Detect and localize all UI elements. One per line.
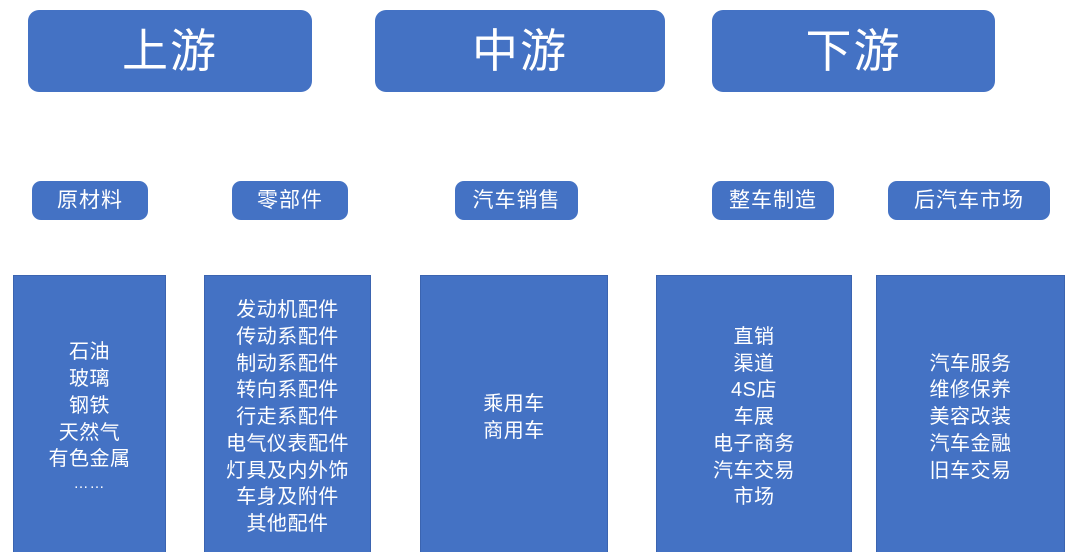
category-label: 汽车销售 <box>473 190 561 211</box>
list-item: 汽车服务 <box>930 351 1012 378</box>
category-pill-vehicle-sales[interactable]: 汽车销售 <box>455 181 578 220</box>
category-label: 零部件 <box>257 190 323 211</box>
category-label: 原材料 <box>57 190 123 211</box>
tier-label: 上游 <box>122 28 218 74</box>
list-item: 美容改装 <box>930 404 1012 431</box>
list-item: 灯具及内外饰 <box>226 458 349 485</box>
category-pill-vehicle-manufacturing[interactable]: 整车制造 <box>712 181 834 220</box>
list-item: 电气仪表配件 <box>226 431 349 458</box>
content-box-vehicle-sales[interactable]: 乘用车 商用车 <box>420 275 608 552</box>
category-pill-raw-materials[interactable]: 原材料 <box>32 181 148 220</box>
list-item: 电子商务 <box>713 431 795 458</box>
list-item: 渠道 <box>734 351 775 378</box>
list-item: 直销 <box>734 324 775 351</box>
list-item: 天然气 <box>59 420 121 447</box>
industry-chain-diagram: 上游 中游 下游 原材料 零部件 汽车销售 整车制造 后汽车市场 石油 玻璃 钢… <box>0 0 1080 552</box>
list-item: 维修保养 <box>930 377 1012 404</box>
tier-box-midstream[interactable]: 中游 <box>375 10 665 92</box>
category-label: 整车制造 <box>729 190 817 211</box>
list-item: 其他配件 <box>247 511 329 538</box>
list-item: 旧车交易 <box>930 458 1012 485</box>
list-item: 车展 <box>734 404 775 431</box>
list-item: 车身及附件 <box>236 484 339 511</box>
tier-box-downstream[interactable]: 下游 <box>712 10 995 92</box>
category-pill-aftermarket[interactable]: 后汽车市场 <box>888 181 1050 220</box>
list-item: 4S店 <box>731 377 777 404</box>
list-item: 商用车 <box>483 418 545 445</box>
category-pill-components[interactable]: 零部件 <box>232 181 348 220</box>
tier-label: 下游 <box>806 28 902 74</box>
content-box-vehicle-manufacturing[interactable]: 直销 渠道 4S店 车展 电子商务 汽车交易 市场 <box>656 275 852 552</box>
tier-label: 中游 <box>472 28 568 74</box>
list-item: 玻璃 <box>69 366 110 393</box>
list-item: 有色金属 <box>49 446 131 473</box>
list-item-ellipsis: …… <box>74 473 106 496</box>
list-item: 汽车金融 <box>930 431 1012 458</box>
list-item: 转向系配件 <box>236 377 339 404</box>
content-box-raw-materials[interactable]: 石油 玻璃 钢铁 天然气 有色金属 …… <box>13 275 166 552</box>
list-item: 汽车交易 <box>713 458 795 485</box>
category-label: 后汽车市场 <box>914 190 1024 211</box>
list-item: 发动机配件 <box>236 297 339 324</box>
list-item: 行走系配件 <box>236 404 339 431</box>
list-item: 传动系配件 <box>236 324 339 351</box>
list-item: 钢铁 <box>69 393 110 420</box>
list-item: 石油 <box>69 339 110 366</box>
content-box-components[interactable]: 发动机配件 传动系配件 制动系配件 转向系配件 行走系配件 电气仪表配件 灯具及… <box>204 275 371 552</box>
list-item: 制动系配件 <box>236 351 339 378</box>
tier-box-upstream[interactable]: 上游 <box>28 10 312 92</box>
list-item: 乘用车 <box>483 391 545 418</box>
list-item: 市场 <box>734 484 775 511</box>
content-box-aftermarket[interactable]: 汽车服务 维修保养 美容改装 汽车金融 旧车交易 <box>876 275 1065 552</box>
